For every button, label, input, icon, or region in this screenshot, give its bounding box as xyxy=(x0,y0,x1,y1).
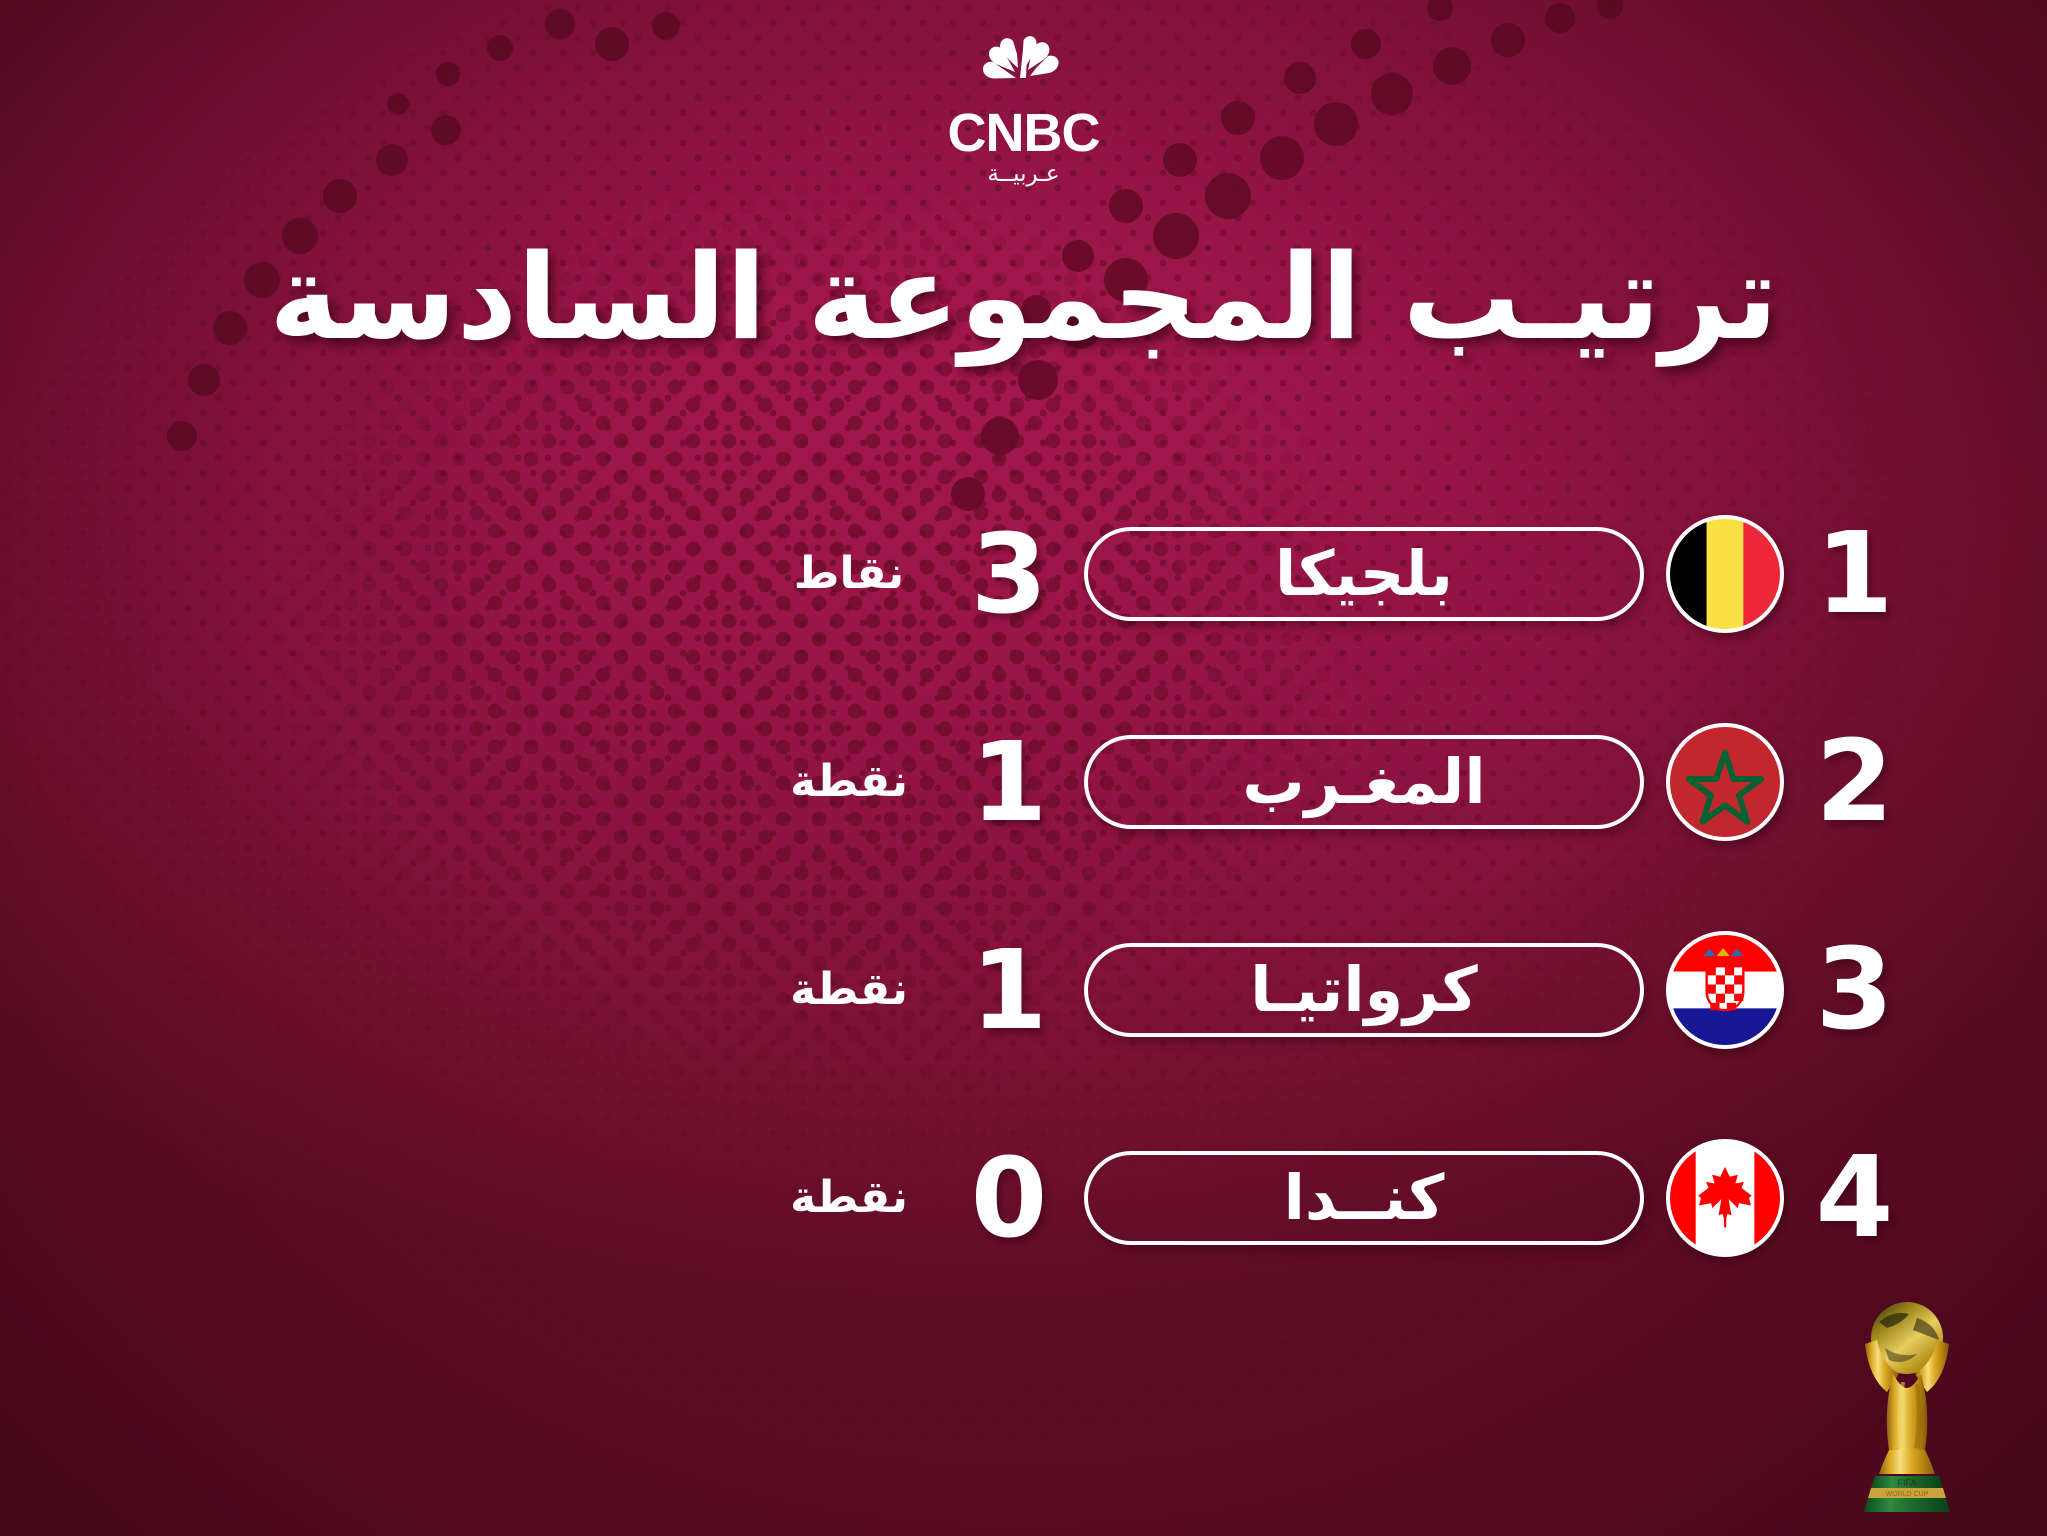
rank-number: 3 xyxy=(1802,934,1907,1046)
cnbc-arabia-wordmark: عـربيــة xyxy=(909,161,1139,187)
svg-text:WORLD CUP: WORLD CUP xyxy=(1886,1491,1929,1498)
svg-text:FIFA: FIFA xyxy=(1897,1478,1916,1488)
table-row: 4 كنــدا 0 نقطة xyxy=(0,1094,2047,1302)
country-name: بلجيكا xyxy=(1275,543,1453,605)
belgium-flag-icon xyxy=(1666,515,1784,633)
country-pill: كنــدا xyxy=(1084,1151,1644,1245)
nbc-peacock-icon xyxy=(960,34,1088,106)
table-row: 2 المغـرب 1 نقطة xyxy=(0,678,2047,886)
cnbc-wordmark: CNBC xyxy=(909,108,1139,159)
country-name: كنــدا xyxy=(1284,1167,1445,1229)
points-label: نقطة xyxy=(764,968,934,1012)
points-value: 1 xyxy=(934,935,1084,1045)
points-value: 3 xyxy=(934,519,1084,629)
table-row: 1 بلجيكا 3 نقاط xyxy=(0,470,2047,678)
croatia-flag-icon xyxy=(1666,931,1784,1049)
points-label: نقطة xyxy=(764,760,934,804)
country-pill: بلجيكا xyxy=(1084,527,1644,621)
country-pill: كرواتيـا xyxy=(1084,943,1644,1037)
page-title: ترتيـب المجموعة السادسة xyxy=(0,238,2047,356)
points-label: نقاط xyxy=(764,552,934,596)
infographic-canvas: CNBC عـربيــة ترتيـب المجموعة السادسة 1 … xyxy=(0,0,2047,1536)
morocco-flag-icon xyxy=(1666,723,1784,841)
rank-number: 4 xyxy=(1802,1142,1907,1254)
canada-flag-icon xyxy=(1666,1139,1784,1257)
rank-number: 2 xyxy=(1802,726,1907,838)
points-label: نقطة xyxy=(764,1176,934,1220)
points-value: 1 xyxy=(934,727,1084,837)
country-name: كرواتيـا xyxy=(1250,959,1477,1021)
cnbc-logo: CNBC عـربيــة xyxy=(909,34,1139,187)
rank-number: 1 xyxy=(1802,518,1907,630)
points-value: 0 xyxy=(934,1143,1084,1253)
country-pill: المغـرب xyxy=(1084,735,1644,829)
standings-table: 1 بلجيكا 3 نقاط 2 xyxy=(0,470,2047,1302)
fifa-world-cup-trophy-icon: FIFA WORLD CUP xyxy=(1827,1296,1987,1528)
table-row: 3 xyxy=(0,886,2047,1094)
country-name: المغـرب xyxy=(1242,751,1485,813)
